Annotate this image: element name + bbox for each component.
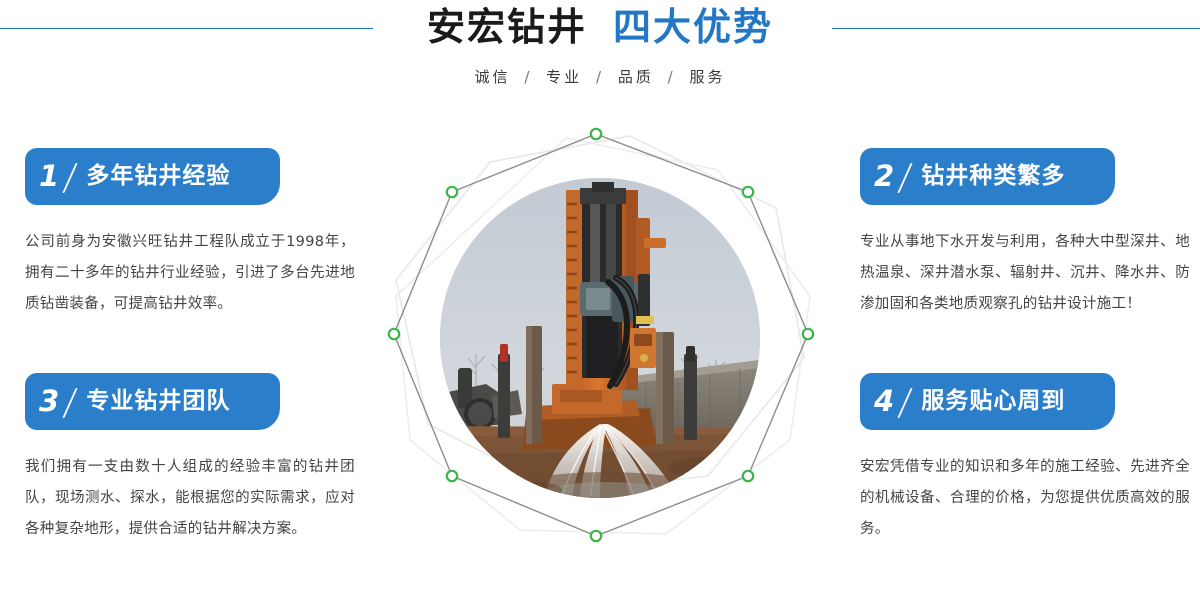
- ring-node-bottom: [591, 531, 601, 541]
- feature-card-3: 3 专业钻井团队 我们拥有一支由数十人组成的经验丰富的钻井团队，现场测水、探水，…: [25, 373, 355, 545]
- drilling-rig-photo: [440, 178, 760, 498]
- feature-text-1: 公司前身为安徽兴旺钻井工程队成立于1998年，拥有二十多年的钻井行业经验，引进了…: [25, 227, 355, 320]
- feature-number-1: 1: [39, 148, 59, 205]
- feature-number-2: 2: [874, 148, 894, 205]
- subtitle-item-1: 诚信: [475, 68, 511, 86]
- slash-icon: [63, 163, 78, 193]
- feature-title-3: 专业钻井团队: [86, 373, 230, 430]
- ring-node-right: [803, 329, 813, 339]
- page-header: 安宏钻井四大优势 诚信 / 专业 / 品质 / 服务: [0, 0, 1200, 110]
- ring-node-top: [591, 129, 601, 139]
- feature-card-2: 2 钻井种类繁多 专业从事地下水开发与利用，各种大中型深井、地热温泉、深井潜水泵…: [860, 148, 1190, 320]
- feature-number-3: 3: [39, 373, 59, 430]
- feature-badge-3: 3 专业钻井团队: [25, 373, 280, 430]
- subtitle-item-2: 专业: [546, 68, 582, 86]
- advantages-banner: 安宏钻井四大优势 诚信 / 专业 / 品质 / 服务 1 多年钻井经验 公司前身…: [0, 0, 1200, 600]
- slash-icon: [898, 388, 913, 418]
- feature-badge-4: 4 服务贴心周到: [860, 373, 1115, 430]
- feature-title-2: 钻井种类繁多: [921, 148, 1065, 205]
- feature-text-4: 安宏凭借专业的知识和多年的施工经验、先进齐全的机械设备、合理的价格，为您提供优质…: [860, 452, 1190, 545]
- slash-icon: [63, 388, 78, 418]
- feature-card-4: 4 服务贴心周到 安宏凭借专业的知识和多年的施工经验、先进齐全的机械设备、合理的…: [860, 373, 1190, 545]
- slash-icon: [898, 163, 913, 193]
- feature-card-1: 1 多年钻井经验 公司前身为安徽兴旺钻井工程队成立于1998年，拥有二十多年的钻…: [25, 148, 355, 320]
- subtitle-separator-1: /: [524, 68, 532, 86]
- subtitle-separator-2: /: [596, 68, 604, 86]
- subtitle-separator-3: /: [668, 68, 676, 86]
- title-accent: 四大优势: [613, 5, 773, 49]
- feature-title-1: 多年钻井经验: [86, 148, 230, 205]
- feature-title-4: 服务贴心周到: [921, 373, 1065, 430]
- feature-text-3: 我们拥有一支由数十人组成的经验丰富的钻井团队，现场测水、探水，能根据您的实际需求…: [25, 452, 355, 545]
- feature-number-4: 4: [874, 373, 894, 430]
- feature-badge-1: 1 多年钻井经验: [25, 148, 280, 205]
- page-title: 安宏钻井四大优势: [0, 8, 1200, 46]
- title-main: 安宏钻井: [427, 5, 587, 49]
- drilling-rig-illustration: [440, 178, 760, 498]
- subtitle-list: 诚信 / 专业 / 品质 / 服务: [0, 66, 1200, 87]
- feature-badge-2: 2 钻井种类繁多: [860, 148, 1115, 205]
- subtitle-item-3: 品质: [618, 68, 654, 86]
- subtitle-item-4: 服务: [689, 68, 725, 86]
- ring-node-left: [389, 329, 399, 339]
- feature-text-2: 专业从事地下水开发与利用，各种大中型深井、地热温泉、深井潜水泵、辐射井、沉井、降…: [860, 227, 1190, 320]
